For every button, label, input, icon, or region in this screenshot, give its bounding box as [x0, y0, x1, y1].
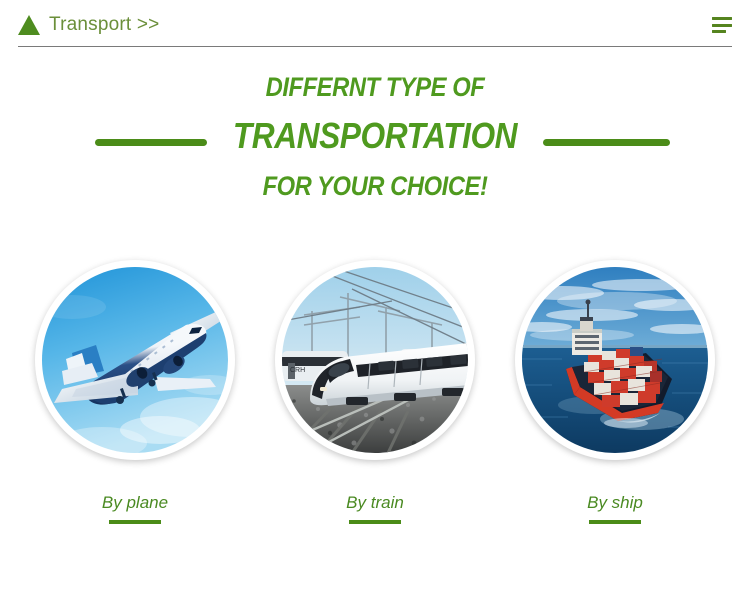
brand-link[interactable]: Transport >>: [18, 14, 159, 36]
triangle-up-icon: [18, 15, 40, 35]
card-underline-train: [349, 520, 401, 524]
card-underline-plane: [109, 520, 161, 524]
transport-options-list: By plane: [0, 260, 750, 524]
card-underline-ship: [589, 520, 641, 524]
hero-title-line-2: TRANSPORTATION: [45, 118, 705, 154]
train-photo: CRH: [282, 267, 468, 453]
airplane-photo: [42, 267, 228, 453]
hero-title-line-3: FOR YOUR CHOICE!: [45, 173, 705, 200]
hero-title-block: DIFFERNT TYPE OF TRANSPORTATION FOR YOUR…: [0, 74, 750, 200]
hamburger-menu-icon[interactable]: [712, 17, 732, 33]
page-header: Transport >>: [0, 0, 750, 50]
menu-line-2: [712, 24, 732, 27]
train-image-ring: CRH: [275, 260, 475, 460]
header-title: Transport >>: [49, 14, 159, 36]
hero-rule-left: [95, 139, 207, 146]
ship-photo: [522, 267, 708, 453]
menu-line-1: [712, 17, 732, 20]
plane-image-ring: [35, 260, 235, 460]
transport-card-plane[interactable]: By plane: [35, 260, 235, 524]
svg-text:CRH: CRH: [290, 367, 305, 374]
ship-image-ring: [515, 260, 715, 460]
card-label-plane: By plane: [102, 493, 168, 513]
card-label-train: By train: [346, 493, 404, 513]
transport-card-ship[interactable]: By ship: [515, 260, 715, 524]
hero-title-line-1: DIFFERNT TYPE OF: [45, 74, 705, 101]
menu-line-3: [712, 30, 726, 33]
transport-card-train[interactable]: CRH: [275, 260, 475, 524]
card-label-ship: By ship: [587, 493, 643, 513]
hero-rule-right: [543, 139, 670, 146]
header-divider: [18, 46, 732, 47]
